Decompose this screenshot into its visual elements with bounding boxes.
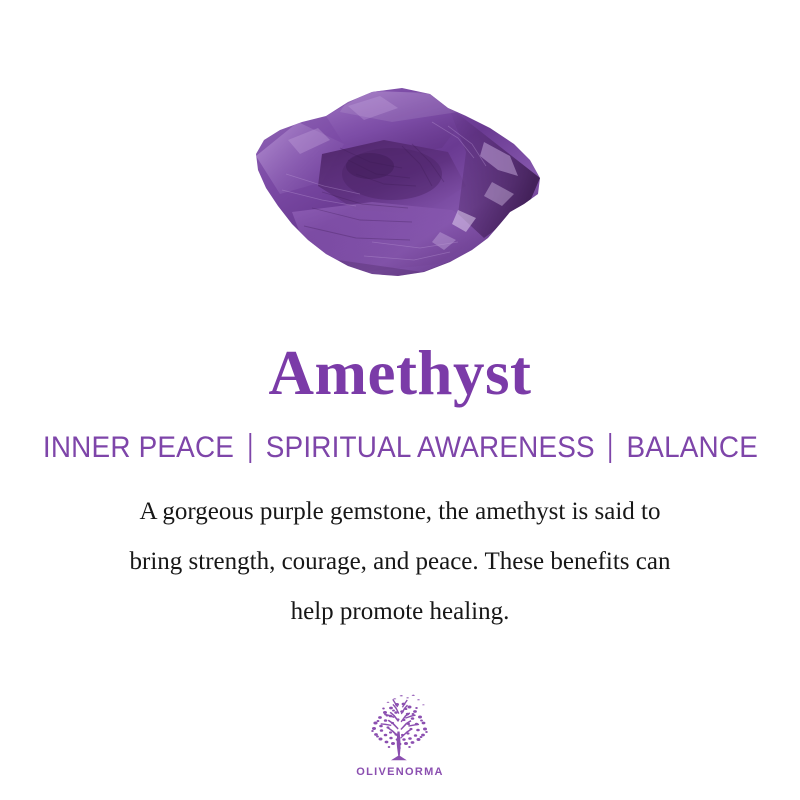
tree-of-life-icon [361, 693, 439, 763]
brand-name: OLIVENORMA [356, 766, 444, 778]
keyword-separator-icon [249, 433, 251, 463]
page-title: Amethyst [269, 342, 532, 405]
description-line: bring strength, courage, and peace. Thes… [40, 537, 760, 587]
amethyst-stone-image [252, 82, 544, 282]
description-line: A gorgeous purple gemstone, the amethyst… [40, 487, 760, 537]
keyword-inner-peace: INNER PEACE [41, 431, 236, 465]
keyword-separator-icon [609, 433, 611, 463]
brand-logo: OLIVENORMA [0, 693, 800, 778]
keyword-spiritual-awareness: SPIRITUAL AWARENESS [263, 431, 596, 465]
keyword-row: INNER PEACE SPIRITUAL AWARENESS BALANCE [41, 431, 760, 465]
description-line: help promote healing. [40, 587, 760, 637]
description-text: A gorgeous purple gemstone, the amethyst… [40, 487, 760, 637]
keyword-balance: BALANCE [624, 431, 759, 465]
product-info-card: Amethyst INNER PEACE SPIRITUAL AWARENESS… [0, 0, 800, 800]
hero-image-area [0, 0, 800, 300]
birds-icon [387, 695, 425, 706]
